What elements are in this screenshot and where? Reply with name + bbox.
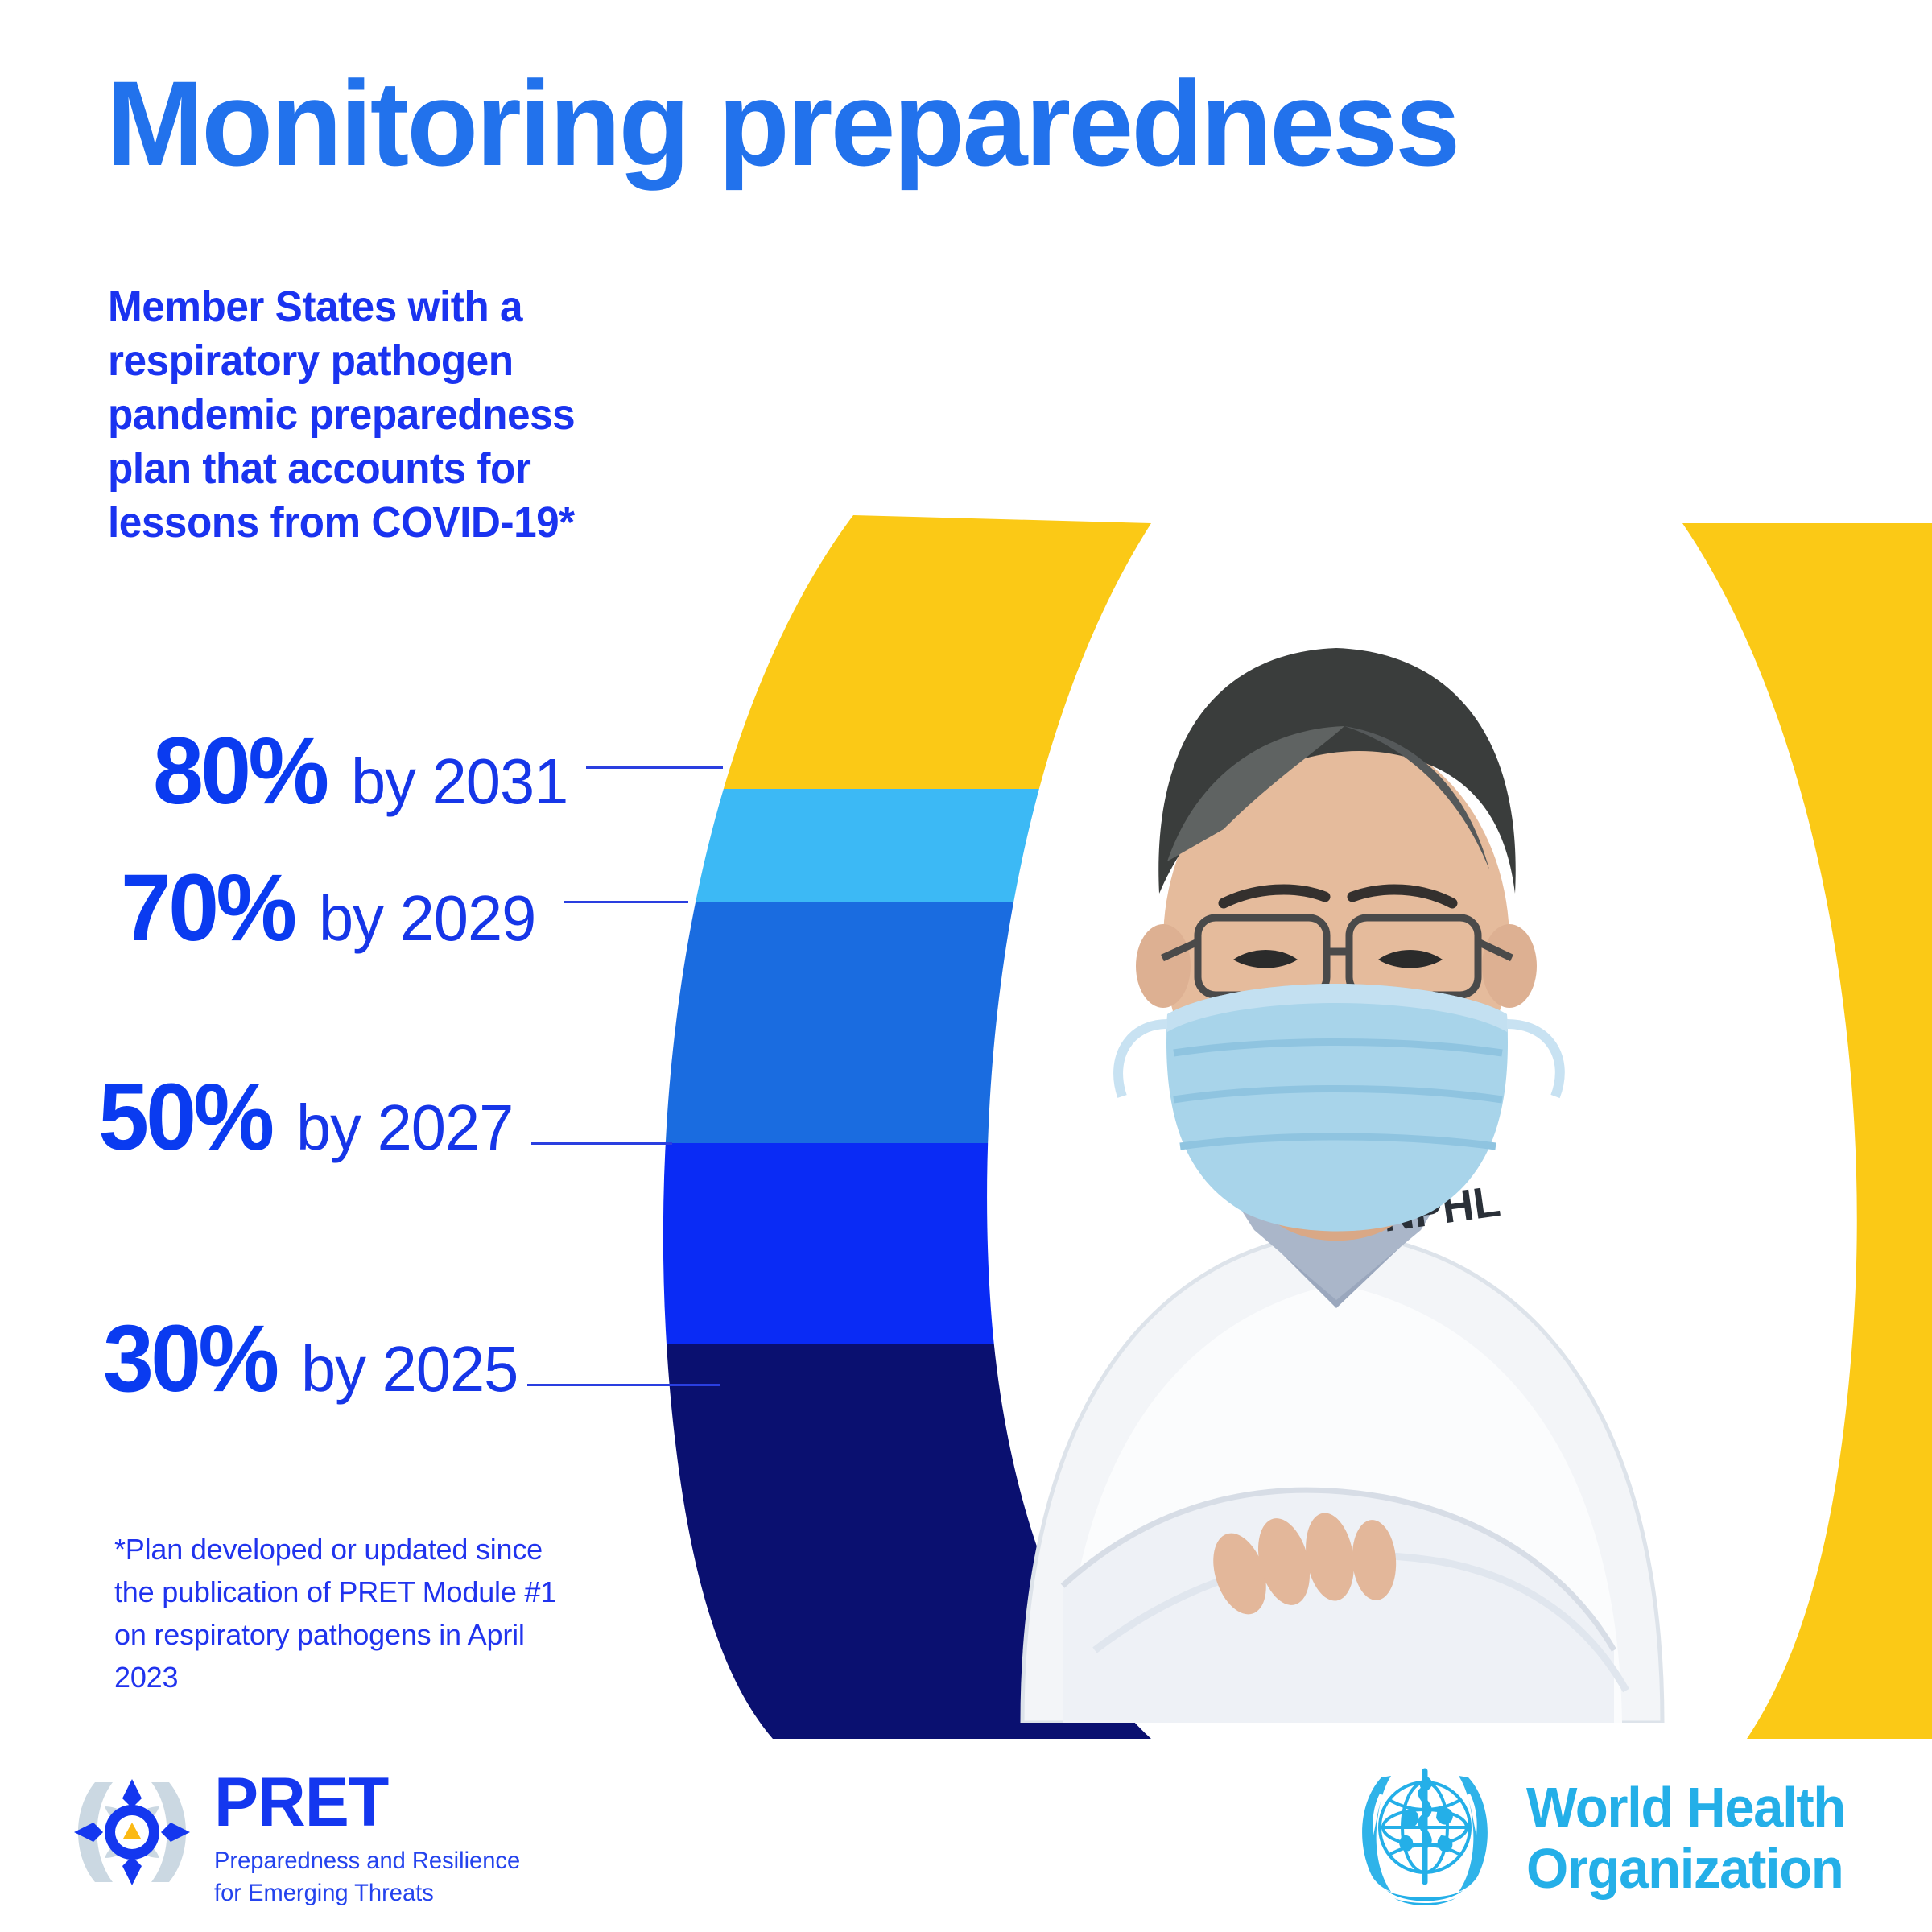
stat-percent-2029: 70%	[121, 853, 294, 963]
infographic-poster: NPHL	[0, 0, 1932, 1932]
who-logo: World Health Organization	[1344, 1761, 1858, 1914]
who-emblem-icon	[1344, 1761, 1505, 1914]
stat-row-2025: 30% by 2025	[103, 1304, 525, 1414]
subtitle-text: Member States with a respiratory pathoge…	[108, 280, 643, 550]
stat-row-2031: 80% by 2031	[153, 716, 575, 826]
who-name-line2: Organization	[1526, 1838, 1845, 1899]
pret-logo: PRET Preparedness and Resilience for Eme…	[68, 1771, 530, 1909]
footnote-text: *Plan developed or updated since the pub…	[114, 1528, 581, 1699]
stat-row-2029: 70% by 2029	[121, 853, 543, 963]
leader-line-2031	[586, 766, 723, 769]
stat-year-2031: by 2031	[351, 745, 568, 819]
leader-line-2025	[527, 1384, 720, 1386]
leader-line-2029	[563, 901, 688, 903]
stat-year-2027: by 2027	[296, 1091, 513, 1165]
stat-percent-2031: 80%	[153, 716, 326, 826]
stat-row-2027: 50% by 2027	[98, 1063, 520, 1172]
page-title: Monitoring preparedness	[106, 63, 1668, 184]
leader-line-2027	[531, 1142, 672, 1145]
stat-percent-2025: 30%	[103, 1304, 276, 1414]
who-name-line1: World Health	[1526, 1777, 1845, 1838]
pret-tagline-line1: Preparedness and Resilience	[214, 1845, 520, 1877]
pret-tagline-line2: for Emerging Threats	[214, 1877, 520, 1909]
stat-year-2029: by 2029	[319, 881, 535, 956]
stat-year-2025: by 2025	[301, 1332, 518, 1406]
stat-percent-2027: 50%	[98, 1063, 271, 1172]
health-worker-photo: NPHL	[821, 330, 1851, 1723]
pret-compass-icon	[68, 1771, 196, 1892]
pret-wordmark: PRET	[214, 1768, 517, 1837]
pret-tagline: Preparedness and Resilience for Emerging…	[214, 1845, 520, 1909]
